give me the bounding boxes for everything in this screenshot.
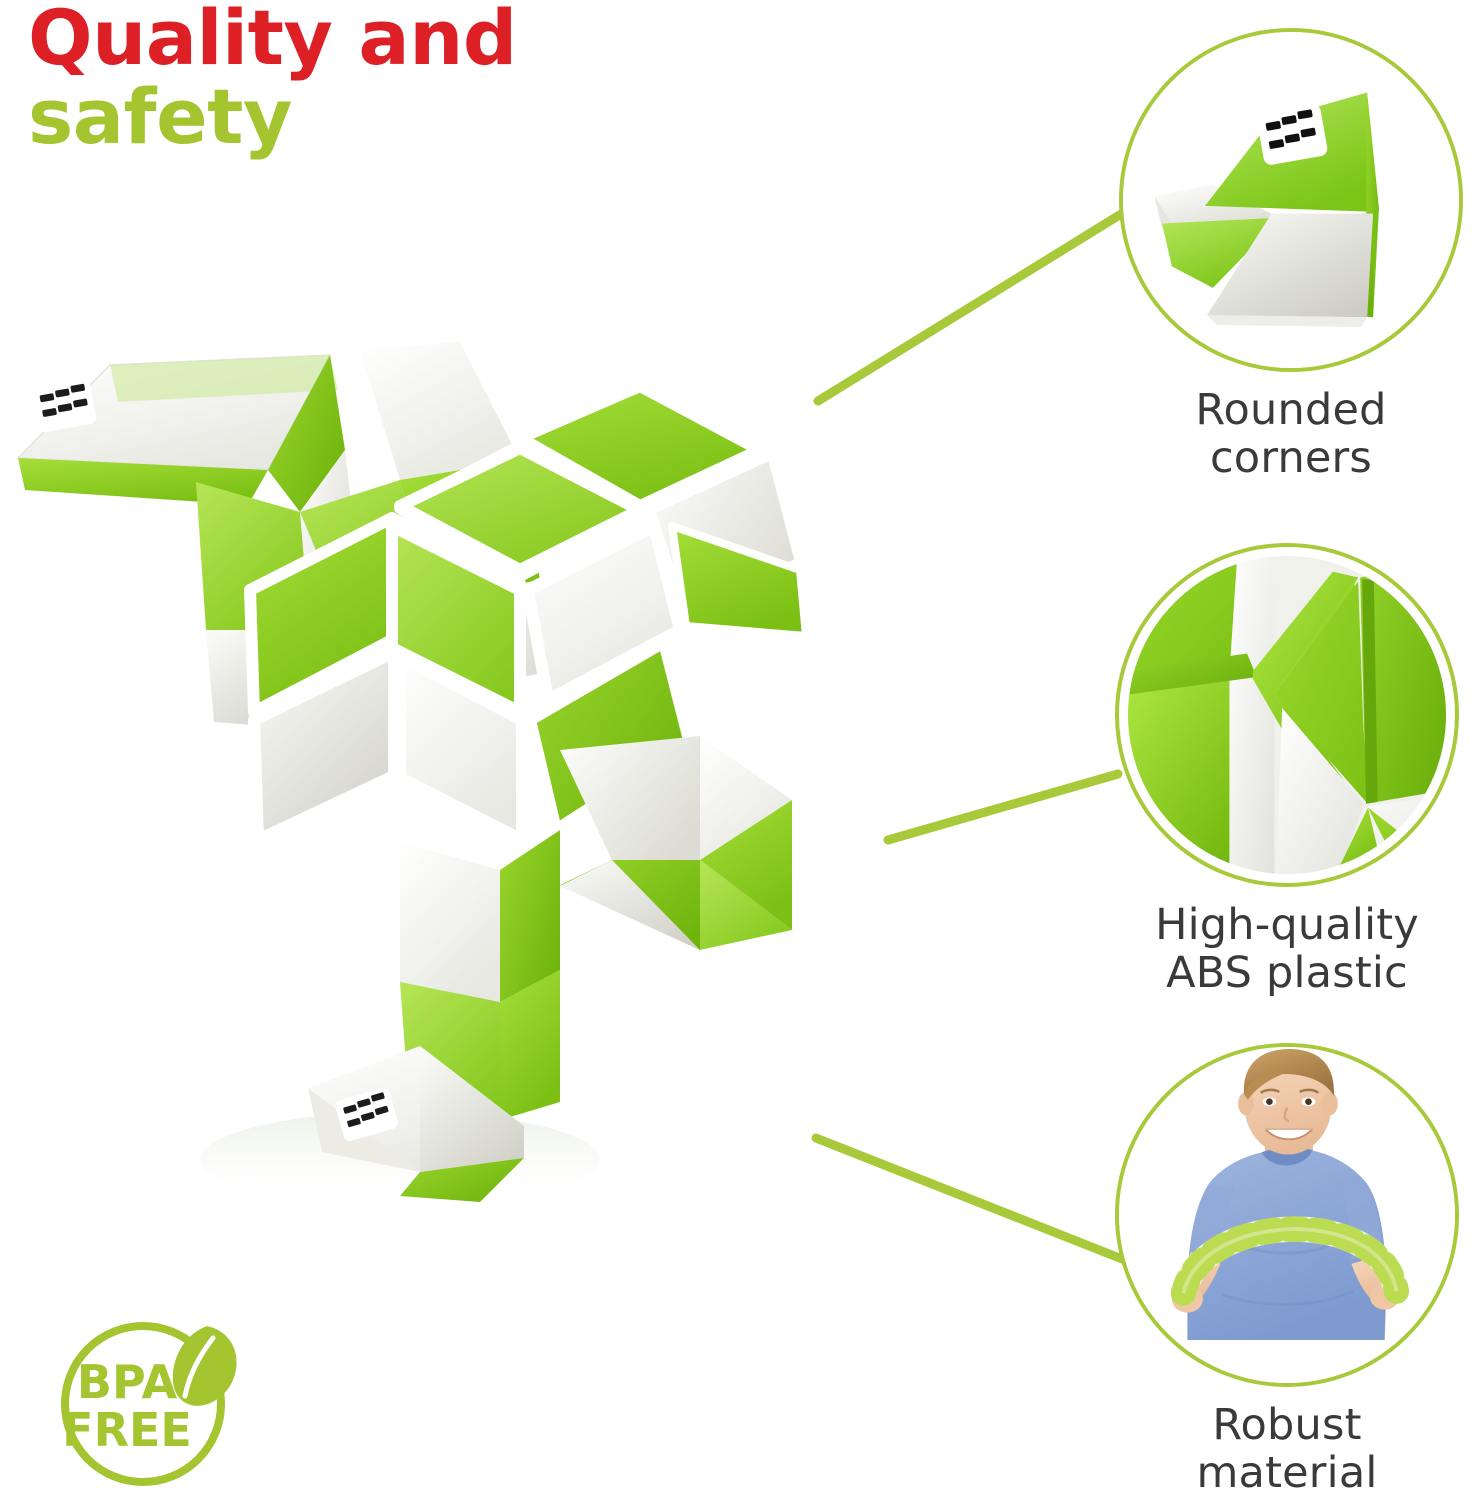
puzzle-corner-closeup [1123,32,1459,368]
page-title-line-1: Quality and [28,2,648,75]
feature-1-label-line-1: Rounded [1195,385,1386,435]
page-title-line-2: safety [28,81,648,154]
product-feature-infographic: Quality and safety [0,0,1483,1500]
feature-2-label: High-quality ABS plastic [1100,901,1474,997]
puzzle-segment-fin [560,736,792,950]
feature-1-label: Rounded corners [1104,386,1478,482]
bpa-free-badge: BPA FREE [55,1312,255,1497]
feature-2-label-line-1: High-quality [1155,900,1419,950]
feature-1-image-circle [1119,28,1463,372]
feature-abs-plastic: High-quality ABS plastic [1100,543,1474,997]
page-title: Quality and safety [28,2,648,154]
connector-line-3 [816,1138,1122,1259]
connector-line-2 [888,774,1118,840]
product-hero-image [0,330,840,1230]
feature-2-label-line-2: ABS plastic [1166,948,1408,998]
plastic-surface-closeup [1128,556,1446,874]
boy-bending-puzzle-photo [1119,1047,1455,1383]
connector-line-1 [818,211,1126,401]
feature-2-image-circle [1115,543,1459,887]
feature-3-label-line-1: Robust [1212,1400,1361,1450]
bpa-badge-line-2: FREE [62,1403,192,1457]
bpa-badge-line-1: BPA [77,1355,178,1409]
feature-3-label: Robust material [1100,1401,1474,1497]
feature-1-label-line-2: corners [1210,433,1372,483]
feature-3-image-circle [1115,1043,1459,1387]
feature-rounded-corners: Rounded corners [1104,28,1478,482]
puzzle-segment-head [18,355,345,512]
brand-logo-sticker [1256,103,1329,166]
feature-3-label-line-2: material [1196,1448,1377,1498]
feature-robust-material: Robust material [1100,1043,1474,1497]
